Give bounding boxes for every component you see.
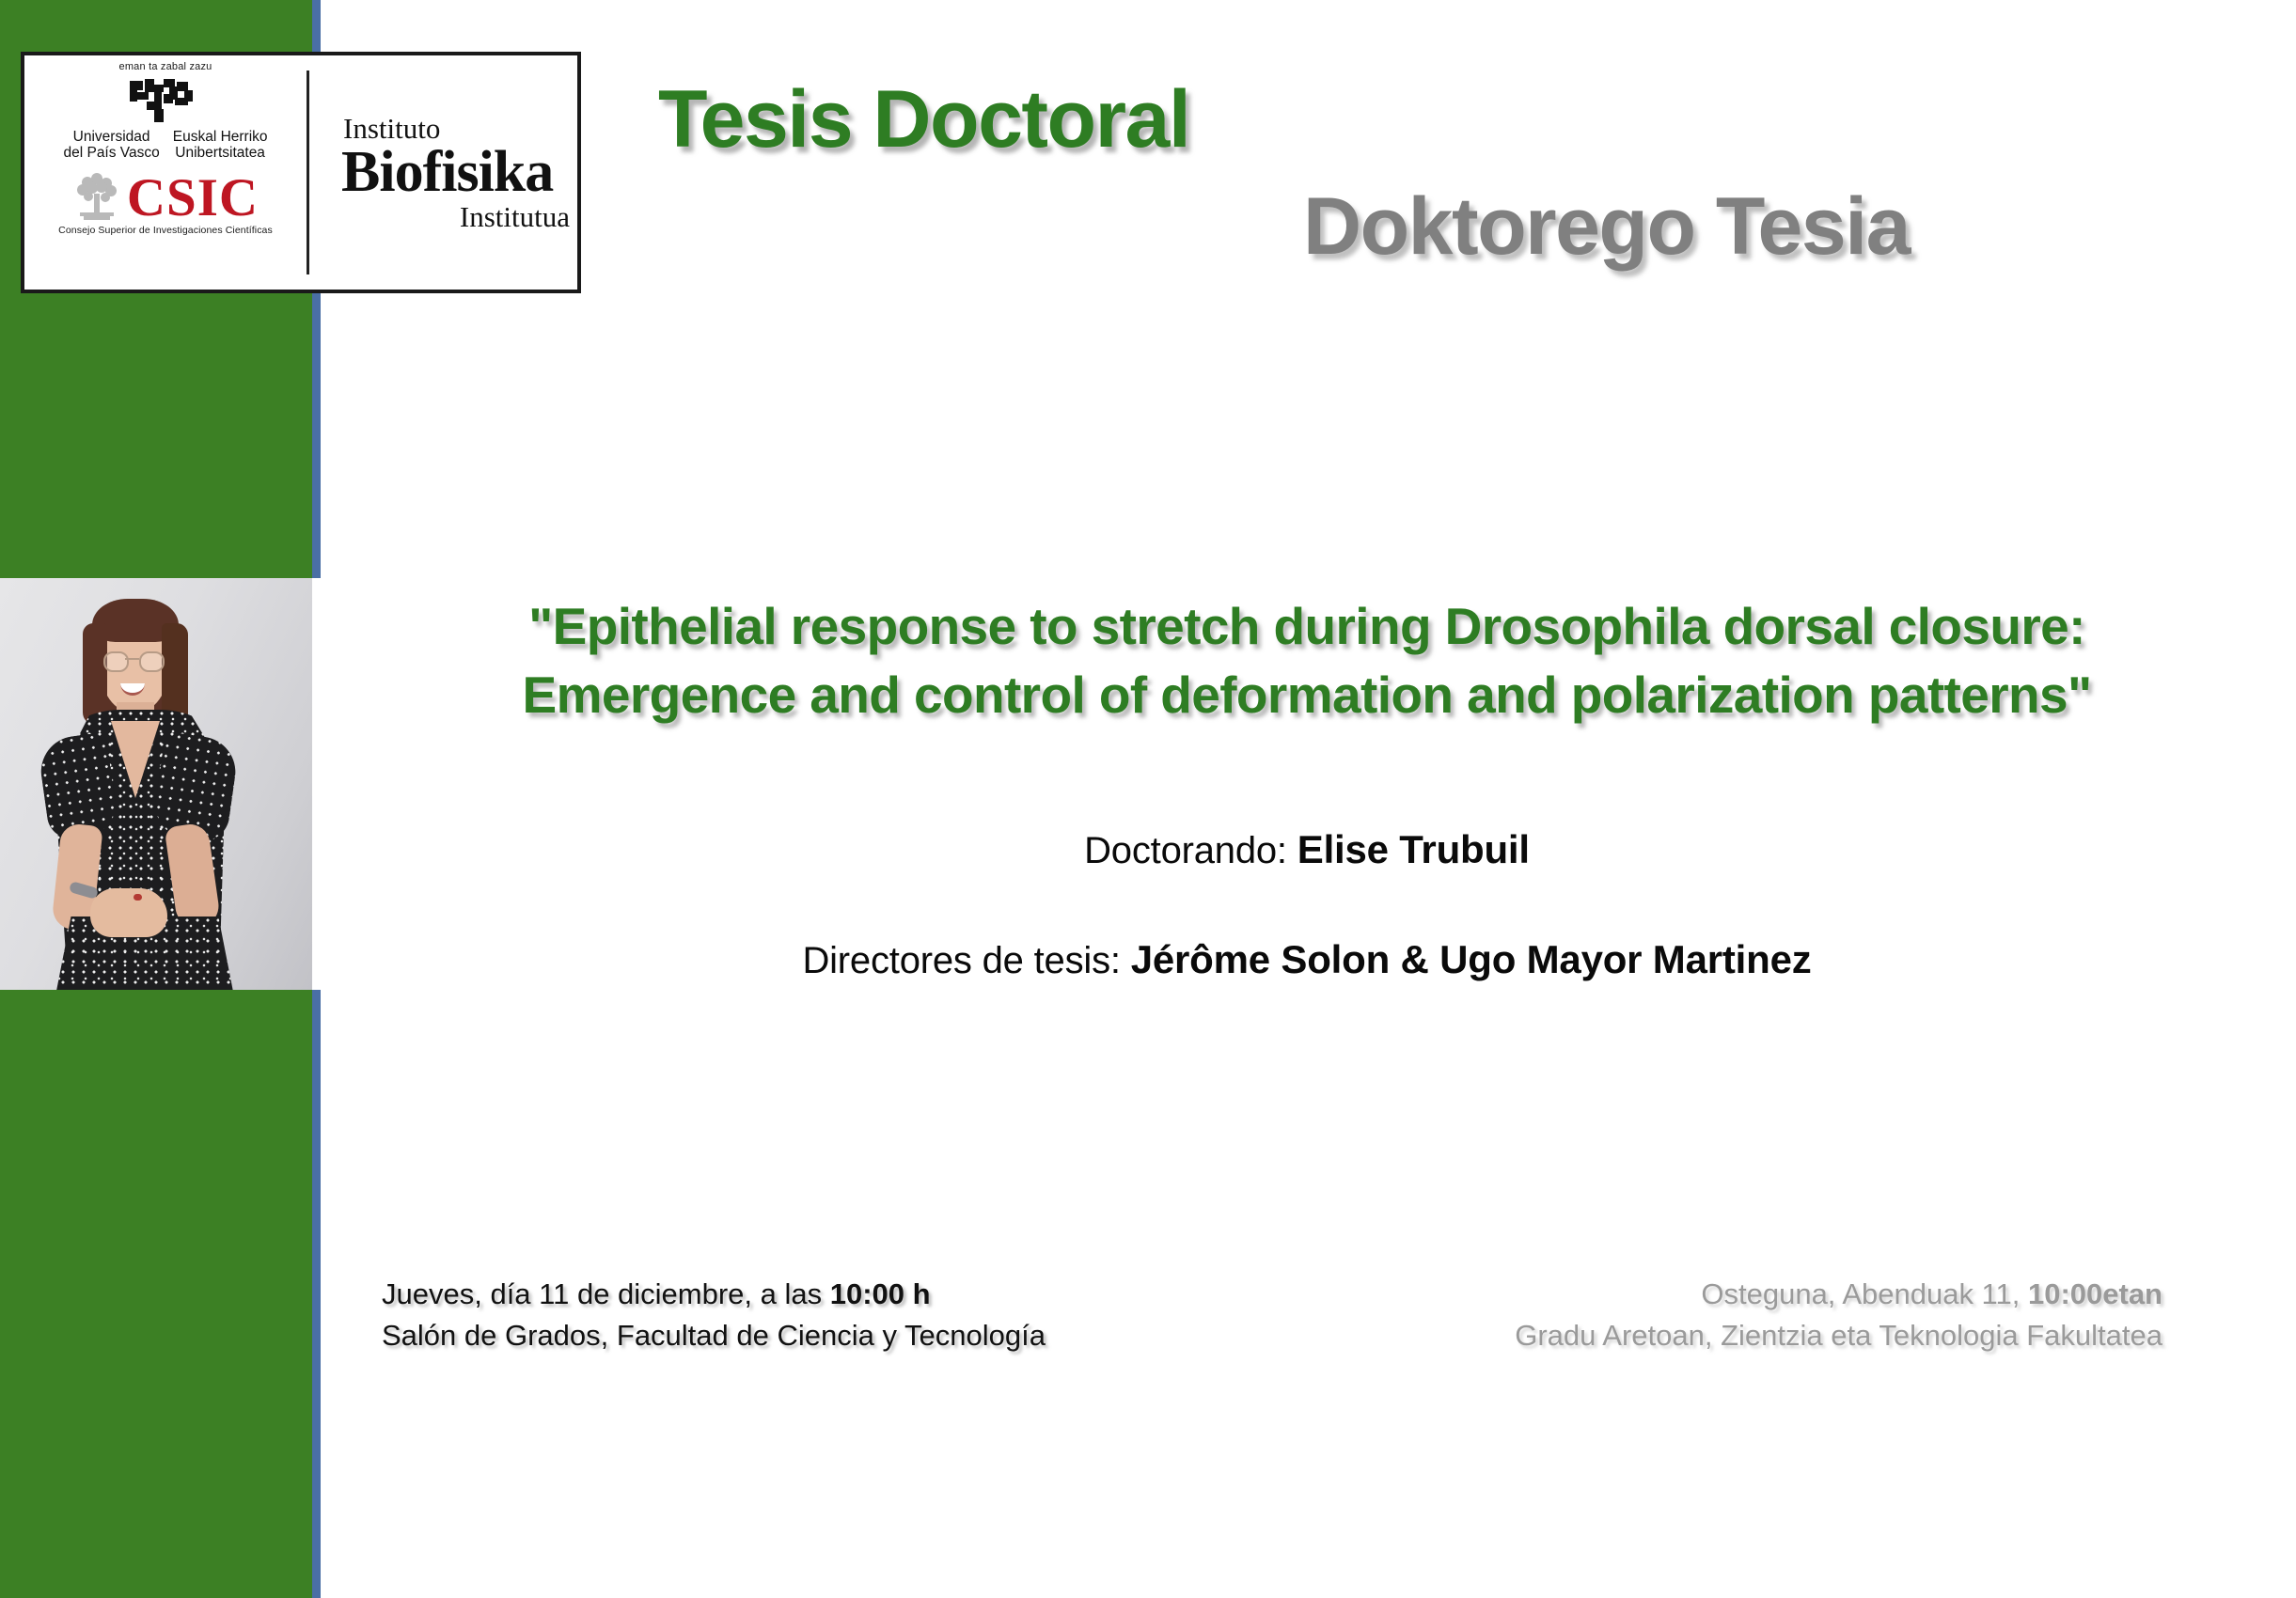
csic-full-name: Consejo Superior de Investigaciones Cien… [24,225,307,236]
event-time-spanish: 10:00 h [830,1277,931,1310]
csic-tree-icon [72,173,121,222]
portrait-nail-polish [134,894,142,901]
candidate-row: Doctorando: Elise Trubuil [338,827,2275,872]
supervisors-row: Directores de tesis: Jérôme Solon & Ugo … [338,937,2275,982]
biofisika-logo: Instituto Biofisika Institutua [309,55,577,290]
portrait-glasses-bridge [125,658,139,660]
institution-logo-box: eman ta zabal zazu [21,52,581,293]
event-date-spanish: Jueves, día 11 de diciembre, a las 10:00… [382,1274,1046,1315]
ehu-name-spanish: Universidad del País Vasco [63,129,159,162]
blue-accent-stripe-bottom [312,990,321,1598]
supervisors-names: Jérôme Solon & Ugo Mayor Martinez [1131,937,1812,981]
portrait-hands [90,888,167,937]
event-date-prefix-spanish: Jueves, día 11 de diciembre, a las [382,1277,830,1310]
event-time-basque: 10:00etan [2028,1277,2162,1310]
ehu-motto: eman ta zabal zazu [119,61,212,72]
thesis-title-line-2: Emergence and control of deformation and… [338,661,2275,729]
biofisika-line-instituto: Instituto [343,114,577,143]
csic-acronym: CSIC [127,176,259,221]
thesis-defence-poster: eman ta zabal zazu [0,0,2296,1598]
biofisika-wordmark: Biofisika [341,143,577,202]
event-details-spanish: Jueves, día 11 de diciembre, a las 10:00… [382,1274,1046,1356]
green-sidebar-bottom [0,990,312,1598]
event-venue-spanish: Salón de Grados, Facultad de Ciencia y T… [382,1315,1046,1356]
portrait-hair-left [83,623,107,725]
candidate-portrait-photo [0,578,312,990]
supervisors-label: Directores de tesis: [802,940,1130,981]
page-title-spanish: Tesis Doctoral [658,73,1189,166]
page-title-basque: Doktorego Tesia [1303,180,1910,274]
event-details-basque: Osteguna, Abenduak 11, 10:00etan Gradu A… [1515,1274,2162,1356]
ehu-lauburu-icon [126,73,205,126]
ehu-name-basque: Euskal Herriko Unibertsitatea [173,129,268,162]
candidate-name: Elise Trubuil [1297,827,1530,871]
thesis-title: "Epithelial response to stretch during D… [338,592,2275,728]
event-date-prefix-basque: Osteguna, Abenduak 11, [1701,1277,2028,1310]
ehu-csic-logo-group: eman ta zabal zazu [24,55,307,290]
ehu-university-names: Universidad del País Vasco Euskal Herrik… [63,129,267,162]
event-date-basque: Osteguna, Abenduak 11, 10:00etan [1515,1274,2162,1315]
candidate-label: Doctorando: [1084,830,1297,871]
biofisika-line-institutua: Institutua [341,202,577,231]
event-venue-basque: Gradu Aretoan, Zientzia eta Teknologia F… [1515,1315,2162,1356]
thesis-title-line-1: "Epithelial response to stretch during D… [338,592,2275,661]
csic-logo: CSIC [72,173,259,222]
portrait-glasses-left-lens [103,651,129,672]
portrait-glasses-right-lens [139,651,165,672]
